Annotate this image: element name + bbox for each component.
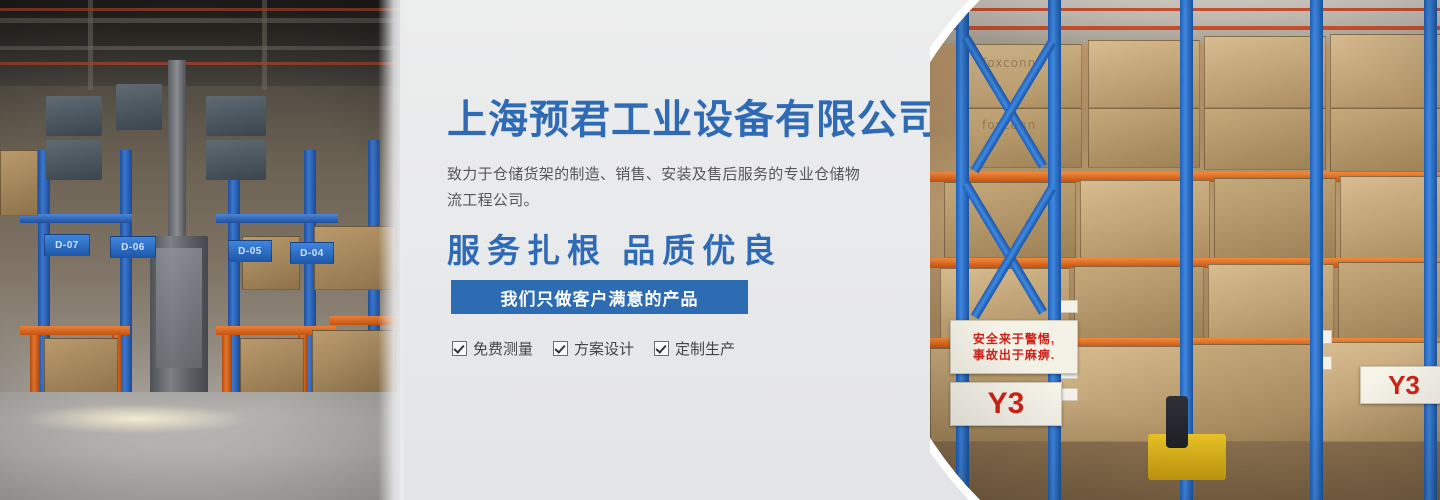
right-photo-vignette: [930, 0, 1440, 500]
company-subtitle: 致力于仓储货架的制造、销售、安装及售后服务的专业仓储物流工程公司。: [447, 162, 865, 214]
circle-photo-mask: foxconn foxconn foxconn foxconn: [930, 0, 1440, 500]
check-box-icon: [654, 341, 669, 356]
feature-item-free-measurement: 免费测量: [452, 338, 533, 359]
cta-button[interactable]: 我们只做客户满意的产品: [451, 280, 748, 314]
right-photo-inner: foxconn foxconn foxconn foxconn: [930, 0, 1440, 500]
check-box-icon: [553, 341, 568, 356]
left-warehouse-photo: D-07 D-06 D-05 D-04: [0, 0, 400, 500]
banner-content: 上海预君工业设备有限公司 致力于仓储货架的制造、销售、安装及售后服务的专业仓储物…: [447, 0, 917, 500]
feature-label: 免费测量: [473, 338, 533, 359]
feature-item-custom-production: 定制生产: [654, 338, 735, 359]
left-photo-fade-edge: [378, 0, 404, 500]
hero-banner: D-07 D-06 D-05 D-04 上海预君工业设备有限公司 致力于仓储货架…: [0, 0, 1440, 500]
right-warehouse-photo: foxconn foxconn foxconn foxconn: [930, 0, 1440, 500]
feature-list: 免费测量 方案设计 定制生产: [452, 338, 735, 359]
feature-label: 方案设计: [574, 338, 634, 359]
check-box-icon: [452, 341, 467, 356]
feature-label: 定制生产: [675, 338, 735, 359]
left-photo-vignette: [0, 0, 400, 500]
company-slogan: 服务扎根 品质优良: [447, 224, 782, 272]
company-title: 上海预君工业设备有限公司: [447, 100, 939, 140]
feature-item-solution-design: 方案设计: [553, 338, 634, 359]
